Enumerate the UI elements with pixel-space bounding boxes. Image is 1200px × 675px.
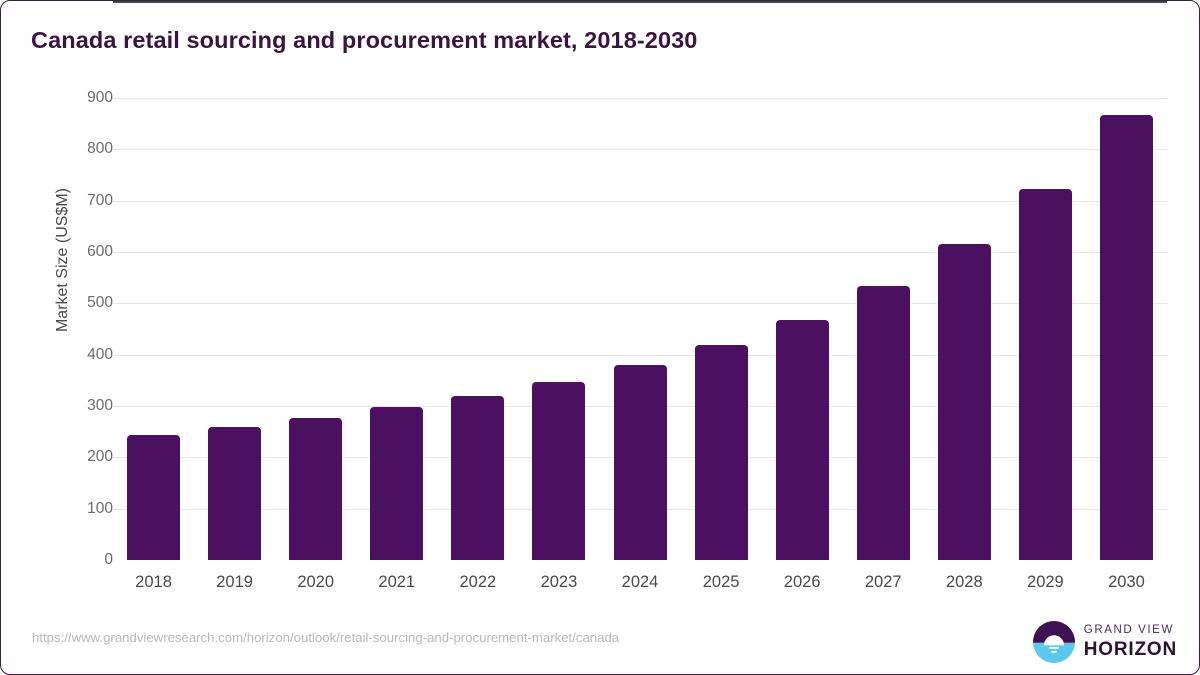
horizon-circle-icon (1033, 621, 1075, 663)
source-url[interactable]: https://www.grandviewresearch.com/horizo… (32, 630, 619, 645)
x-axis-line (113, 1, 1167, 3)
logo-line-horizon: HORIZON (1084, 640, 1177, 659)
y-axis-tick-label: 200 (53, 448, 113, 466)
y-axis-tick-label: 100 (53, 500, 113, 518)
bar-column (194, 98, 275, 560)
x-axis-tick-label: 2020 (275, 573, 356, 592)
bar-column (1005, 98, 1086, 560)
x-axis-tick-label: 2027 (843, 573, 924, 592)
x-axis-tick-label: 2018 (113, 573, 194, 592)
y-axis-tick-label: 300 (53, 397, 113, 415)
bar[interactable] (127, 435, 180, 560)
bar-column (1086, 98, 1167, 560)
bar[interactable] (695, 345, 748, 560)
bar-column (599, 98, 680, 560)
chart-page: Canada retail sourcing and procurement m… (0, 0, 1200, 675)
bar[interactable] (289, 418, 342, 560)
x-axis-tick-label: 2023 (518, 573, 599, 592)
x-axis-tick-label: 2021 (356, 573, 437, 592)
bar-column (275, 98, 356, 560)
bar[interactable] (857, 286, 910, 560)
x-axis-tick-label: 2019 (194, 573, 275, 592)
bar[interactable] (451, 396, 504, 560)
bar[interactable] (776, 320, 829, 560)
y-axis-tick-label: 700 (53, 192, 113, 210)
bar[interactable] (1100, 115, 1153, 560)
x-axis-tick-label: 2030 (1086, 573, 1167, 592)
bar[interactable] (938, 244, 991, 560)
bar-column (843, 98, 924, 560)
x-axis-tick-label: 2026 (762, 573, 843, 592)
bar[interactable] (370, 407, 423, 560)
x-axis-tick-label: 2028 (924, 573, 1005, 592)
y-axis-tick-label: 800 (53, 140, 113, 158)
logo-text: GRAND VIEW HORIZON (1084, 625, 1177, 659)
bar[interactable] (614, 365, 667, 560)
y-axis-tick-label: 0 (53, 551, 113, 569)
y-axis-tick-label: 900 (53, 89, 113, 107)
logo-line-grand-view: GRAND VIEW (1084, 625, 1177, 637)
bar-column (518, 98, 599, 560)
bar-column (113, 98, 194, 560)
bar[interactable] (1019, 189, 1072, 560)
plot-area: Market Size (US$M) 010020030040050060070… (1, 1, 1200, 675)
bar-column (437, 98, 518, 560)
bar[interactable] (208, 427, 261, 560)
x-axis-tick-labels: 2018201920202021202220232024202520262027… (113, 573, 1167, 592)
grand-view-horizon-logo[interactable]: GRAND VIEW HORIZON (1033, 621, 1177, 663)
bar-column (924, 98, 1005, 560)
bar-series (113, 98, 1167, 560)
bar-column (356, 98, 437, 560)
bar-column (681, 98, 762, 560)
y-axis-tick-label: 500 (53, 294, 113, 312)
x-axis-tick-label: 2025 (681, 573, 762, 592)
x-axis-tick-label: 2029 (1005, 573, 1086, 592)
y-axis-tick-label: 600 (53, 243, 113, 261)
bar-column (762, 98, 843, 560)
y-axis-tick-label: 400 (53, 346, 113, 364)
bar[interactable] (532, 382, 585, 560)
x-axis-tick-label: 2022 (437, 573, 518, 592)
x-axis-tick-label: 2024 (599, 573, 680, 592)
